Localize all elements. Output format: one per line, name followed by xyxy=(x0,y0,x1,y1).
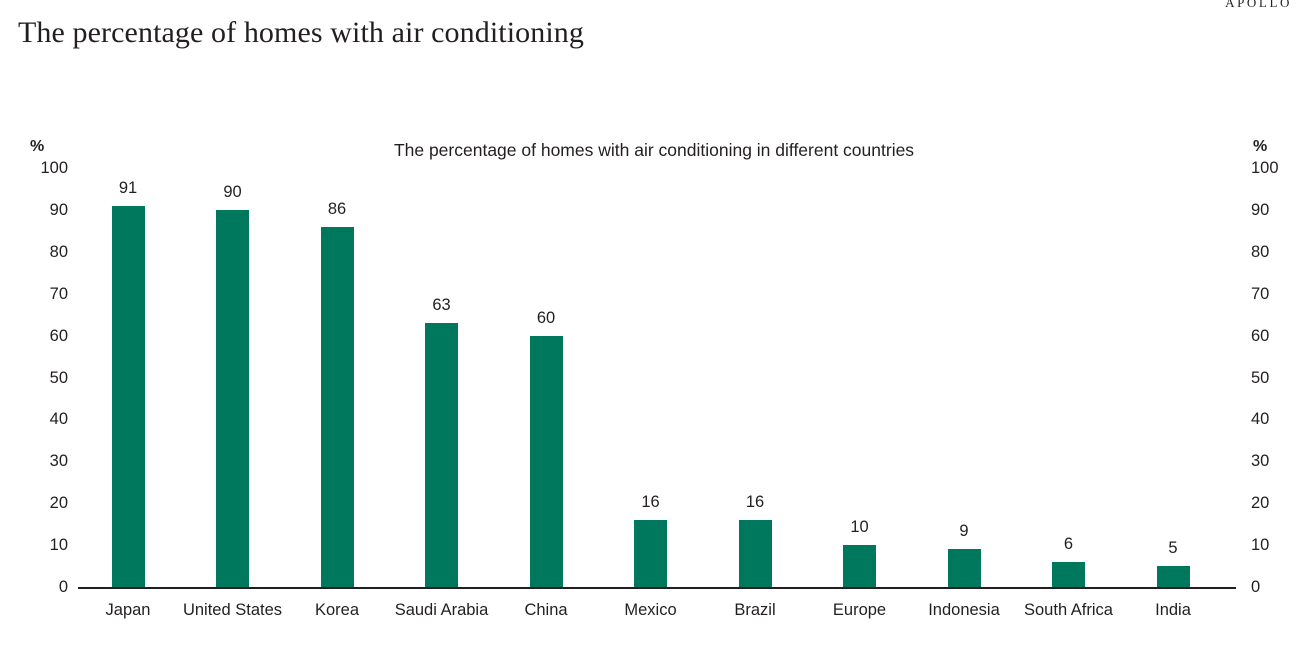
bar[interactable] xyxy=(321,227,354,587)
plot-area: 91Japan90United States86Korea63Saudi Ara… xyxy=(0,0,1308,667)
bar-value-label: 5 xyxy=(1133,540,1213,557)
bar-value-label: 16 xyxy=(611,494,691,511)
bar-group: 9Indonesia xyxy=(948,0,981,667)
bar-group: 86Korea xyxy=(321,0,354,667)
bar[interactable] xyxy=(530,336,563,587)
bar-group: 10Europe xyxy=(843,0,876,667)
bar-chart: The percentage of homes with air conditi… xyxy=(0,0,1308,667)
bar-value-label: 63 xyxy=(402,297,482,314)
bar-value-label: 90 xyxy=(193,184,273,201)
bar-group: 5India xyxy=(1157,0,1190,667)
bar[interactable] xyxy=(843,545,876,587)
bar-group: 6South Africa xyxy=(1052,0,1085,667)
bar-value-label: 10 xyxy=(820,519,900,536)
bar-group: 90United States xyxy=(216,0,249,667)
bar-value-label: 16 xyxy=(715,494,795,511)
bar[interactable] xyxy=(634,520,667,587)
bar-group: 91Japan xyxy=(112,0,145,667)
x-axis-category-label: India xyxy=(1108,600,1238,621)
bar[interactable] xyxy=(948,549,981,587)
chart-page: The percentage of homes with air conditi… xyxy=(0,0,1308,667)
bar-value-label: 60 xyxy=(506,310,586,327)
bar[interactable] xyxy=(112,206,145,587)
bar-group: 63Saudi Arabia xyxy=(425,0,458,667)
bar[interactable] xyxy=(1052,562,1085,587)
bar-value-label: 91 xyxy=(88,180,168,197)
bar[interactable] xyxy=(216,210,249,587)
bar[interactable] xyxy=(1157,566,1190,587)
bar[interactable] xyxy=(739,520,772,587)
bar-group: 16Brazil xyxy=(739,0,772,667)
bar-value-label: 9 xyxy=(924,523,1004,540)
bar[interactable] xyxy=(425,323,458,587)
bar-value-label: 6 xyxy=(1029,536,1109,553)
bar-value-label: 86 xyxy=(297,201,377,218)
bar-group: 16Mexico xyxy=(634,0,667,667)
bar-group: 60China xyxy=(530,0,563,667)
